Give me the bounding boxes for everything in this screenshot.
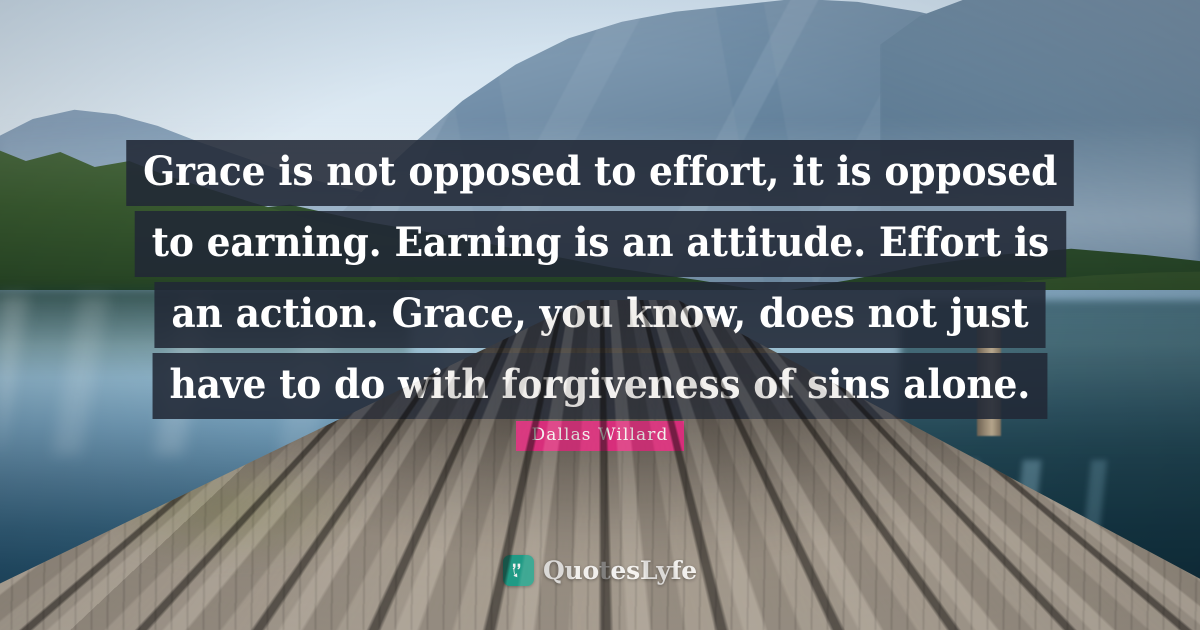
quote-mark-icon bbox=[503, 555, 534, 586]
brand-name: QuotesLyfe bbox=[543, 558, 697, 583]
author-attribution: Dallas Willard bbox=[0, 421, 1200, 451]
author-name-badge[interactable]: Dallas Willard bbox=[516, 421, 685, 451]
quote-card: Grace is not opposed to effort, it is op… bbox=[0, 0, 1200, 630]
quote-line-1: Grace is not opposed to effort, it is op… bbox=[126, 140, 1074, 206]
quote-text-block: Grace is not opposed to effort, it is op… bbox=[0, 140, 1200, 419]
quote-line-4: have to do with forgiveness of sins alon… bbox=[153, 353, 1048, 419]
quote-line-3: an action. Grace, you know, does not jus… bbox=[155, 282, 1046, 348]
quote-line-2: to earning. Earning is an attitude. Effo… bbox=[134, 211, 1065, 277]
brand-watermark[interactable]: QuotesLyfe bbox=[0, 555, 1200, 586]
